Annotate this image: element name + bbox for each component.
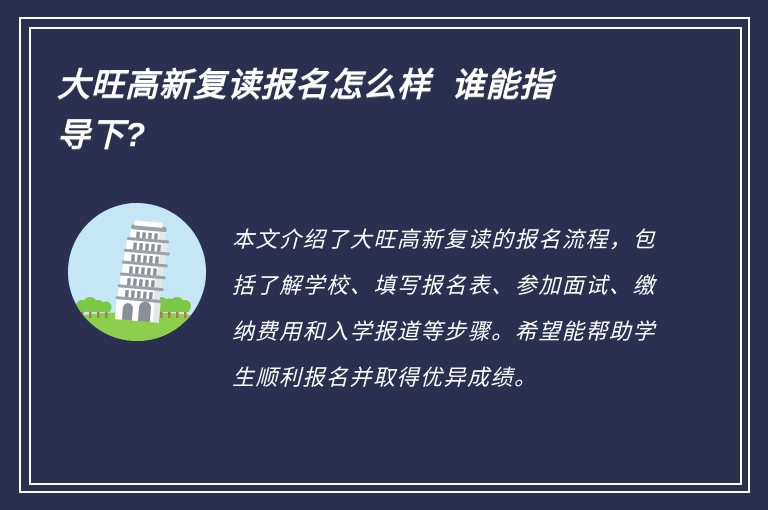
leaning-tower-of-pisa-icon	[68, 203, 206, 341]
pisa-tower-svg	[68, 203, 206, 341]
illustration-container	[68, 203, 206, 341]
poster-canvas: 大旺高新复读报名怎么样 谁能指 导下?	[0, 0, 768, 510]
title-line-1: 大旺高新复读报名怎么样 谁能指	[57, 60, 677, 110]
body-paragraph: 本文介绍了大旺高新复读的报名流程，包括了解学校、填写报名表、参加面试、缴纳费用和…	[232, 218, 656, 402]
page-title: 大旺高新复读报名怎么样 谁能指 导下?	[57, 60, 677, 160]
title-line-2: 导下?	[57, 110, 677, 160]
